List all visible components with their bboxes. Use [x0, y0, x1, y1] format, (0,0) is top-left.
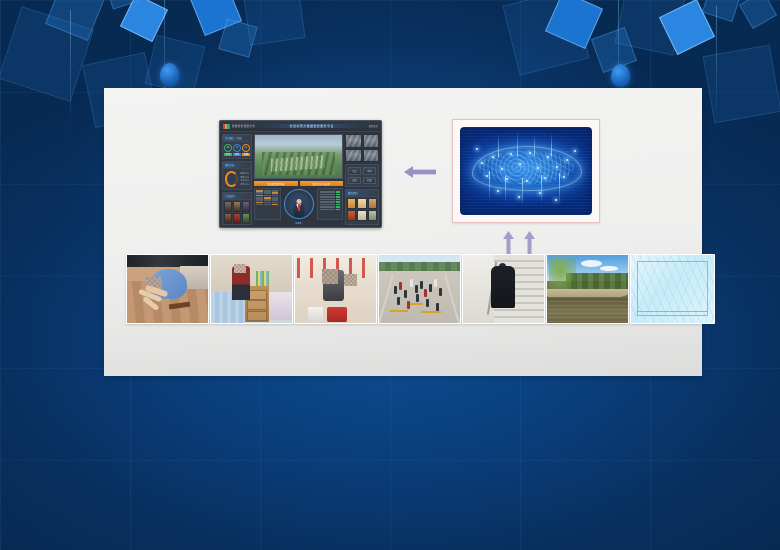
patrol-button[interactable]: 巡查: [348, 177, 361, 185]
camera-feed[interactable]: [363, 149, 380, 163]
meal-thumb[interactable]: [347, 210, 356, 221]
donut-legend-item: 离床 21%: [240, 176, 249, 179]
thumb-outdoor-plaza-crowd[interactable]: [378, 254, 461, 324]
monitoring-dashboard-screenshot[interactable]: 智慧养老监管平台 智慧养老大数据监管服务平台 视频监控 今日统计 · 在线 86…: [219, 120, 382, 228]
multicolor-logo-icon: [223, 124, 230, 129]
dashboard-header: 智慧养老监管平台 智慧养老大数据监管服务平台 视频监控: [220, 121, 381, 132]
meal-supply-card-title: 餐饮供给: [346, 190, 378, 197]
alarm-events-bar[interactable]: 今日报警事件列表: [254, 181, 298, 186]
gauge-ring-value: 12: [233, 144, 241, 152]
thumb-activity-room-seated[interactable]: [294, 254, 377, 324]
face-thumb[interactable]: [233, 201, 241, 212]
person-figure-icon: [292, 198, 305, 218]
dashboard-monitor-label: 视频监控: [368, 124, 378, 128]
status-row: [320, 209, 341, 211]
thumb-abstract-cyan-pattern[interactable]: [630, 254, 715, 324]
dashboard-body: 今日统计 · 在线 86 正常 12 预警 04: [220, 132, 381, 227]
watchlist-table[interactable]: [317, 188, 344, 220]
person-face-card-title: 人员识别: [223, 193, 251, 200]
dashboard-left-column: 今日统计 · 在线 86 正常 12 预警 04: [222, 134, 252, 225]
dashboard-middle-column: 今日报警事件列表 重点关注人员名单: [254, 134, 343, 225]
gauge-ring-value: 86: [224, 144, 232, 152]
person-face-card[interactable]: 人员识别: [222, 192, 252, 225]
camera-feed[interactable]: [345, 134, 362, 148]
face-thumb[interactable]: [233, 213, 241, 224]
gauge-warning[interactable]: 12 预警: [233, 144, 241, 156]
thumb-bedroom-elderly-man[interactable]: [210, 254, 293, 324]
gauge-alarm[interactable]: 04 告警: [242, 144, 250, 156]
featured-person-caption: 张某某: [254, 222, 343, 225]
donut-legend-item: 久滞 15%: [240, 179, 249, 182]
donut-card[interactable]: 报警分析 跌倒 52% 离床 21% 久滞 15% 其他 12%: [222, 161, 252, 190]
featured-person-panel[interactable]: [283, 188, 315, 220]
left-arrow-icon: [404, 165, 436, 179]
kpi-gauges: 86 正常 12 预警 04 告警: [223, 142, 251, 158]
face-grid: [223, 200, 251, 225]
content-panel: 智慧养老监管平台 智慧养老大数据监管服务平台 视频监控 今日统计 · 在线 86…: [104, 88, 702, 376]
ai-brain-frame[interactable]: [452, 119, 600, 223]
call-button[interactable]: 呼叫: [363, 167, 376, 175]
park-3d-video-panel[interactable]: [254, 134, 343, 179]
quick-actions-card[interactable]: 定位 呼叫 巡查 档案: [345, 164, 379, 187]
kpi-card[interactable]: 今日统计 · 在线 86 正常 12 预警 04: [222, 134, 252, 159]
orange-section-bars: 今日报警事件列表 重点关注人员名单: [254, 181, 343, 186]
status-rows: [319, 190, 342, 211]
locate-button[interactable]: 定位: [348, 167, 361, 175]
donut-legend-item: 其他 12%: [240, 183, 249, 186]
featured-person-avatar: [284, 189, 314, 219]
camera-feed[interactable]: [363, 134, 380, 148]
thumb-man-climbing-stairs[interactable]: [462, 254, 545, 324]
donut-chart-wrap: 跌倒 52% 离床 21% 久滞 15% 其他 12%: [223, 169, 251, 189]
records-button[interactable]: 档案: [363, 177, 376, 185]
table-row: [256, 204, 279, 206]
camera-feed[interactable]: [345, 149, 362, 163]
meal-thumb[interactable]: [357, 210, 366, 221]
dashboard-middle-lower: [254, 188, 343, 220]
watchlist-bar[interactable]: 重点关注人员名单: [300, 181, 344, 186]
gauge-pill-label: 告警: [242, 153, 250, 156]
sample-image-strip: [126, 254, 715, 324]
face-thumb[interactable]: [224, 201, 232, 212]
ai-neural-brain-image: [460, 127, 592, 215]
camera-grid: [345, 134, 379, 162]
face-thumb[interactable]: [224, 213, 232, 224]
donut-legend-item: 跌倒 52%: [240, 172, 249, 175]
dashboard-brand-label: 智慧养老监管平台: [232, 124, 255, 128]
meal-thumb[interactable]: [368, 198, 377, 209]
face-thumb[interactable]: [242, 213, 250, 224]
gauge-pill-label: 正常: [224, 153, 232, 156]
gauge-ring-value: 04: [242, 144, 250, 152]
slide-canvas: 智慧养老监管平台 智慧养老大数据监管服务平台 视频监控 今日统计 · 在线 86…: [0, 0, 780, 550]
donut-chart: [225, 171, 238, 187]
kpi-card-title: 今日统计 · 在线: [223, 135, 251, 142]
meal-thumb[interactable]: [347, 198, 356, 209]
alarm-events-table[interactable]: [254, 188, 281, 220]
face-thumb[interactable]: [242, 201, 250, 212]
gauge-normal[interactable]: 86 正常: [224, 144, 232, 156]
donut-legend: 跌倒 52% 离床 21% 久滞 15% 其他 12%: [240, 172, 249, 186]
dashboard-right-column: 定位 呼叫 巡查 档案 餐饮供给: [345, 134, 379, 225]
meal-supply-card[interactable]: 餐饮供给: [345, 189, 379, 225]
meal-thumb[interactable]: [357, 198, 366, 209]
thumb-riverside-park[interactable]: [546, 254, 629, 324]
meal-thumb[interactable]: [368, 210, 377, 221]
donut-card-title: 报警分析: [223, 162, 251, 169]
gauge-pill-label: 预警: [233, 153, 241, 156]
quick-action-buttons: 定位 呼叫 巡查 档案: [346, 165, 378, 186]
meal-grid: [346, 197, 378, 222]
deco-blob-right: [611, 64, 630, 87]
dashboard-title: 智慧养老大数据监管服务平台: [257, 124, 366, 128]
deco-blob-left: [160, 63, 179, 86]
thumb-caregiver-assisting-fall[interactable]: [126, 254, 209, 324]
